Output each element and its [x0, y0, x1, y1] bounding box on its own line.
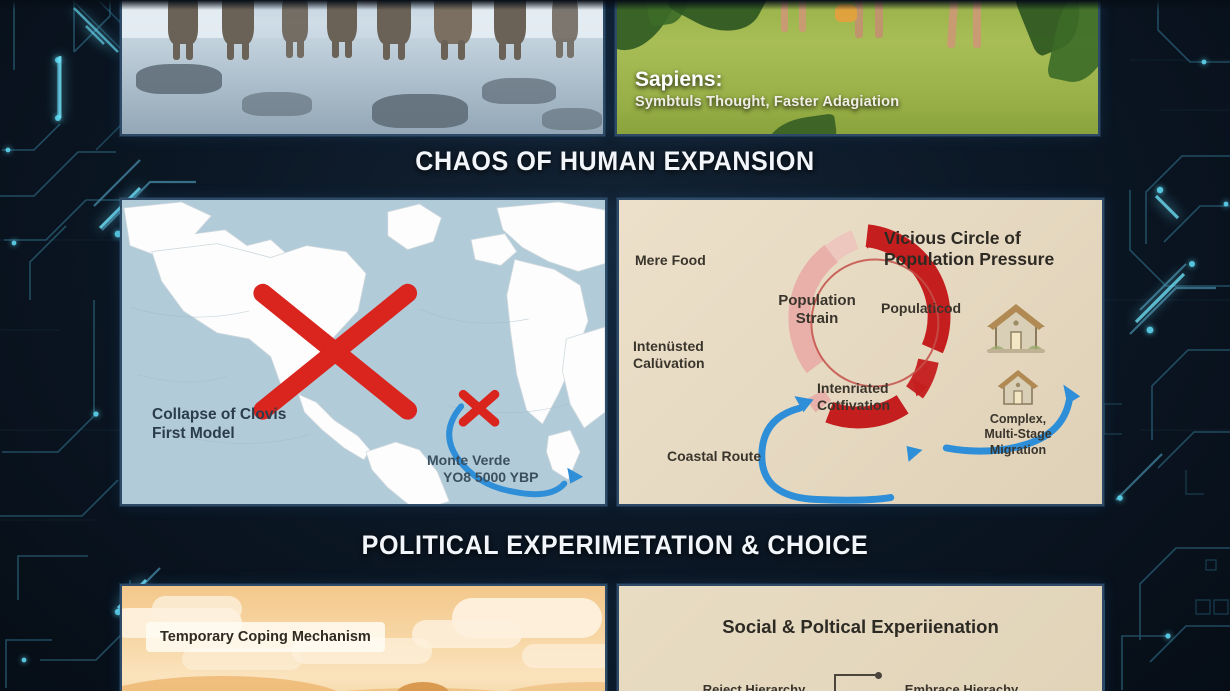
- label-intensified-mid: Intenriated Cotfivation: [817, 380, 890, 414]
- label-population: Populaticod: [881, 300, 961, 317]
- temporary-coping-pill: Temporary Coping Mechanism: [146, 622, 385, 652]
- figure: [434, 0, 472, 44]
- sapiens-caption: Sapiens: Symbtuls Thought, Faster Adagia…: [635, 68, 899, 110]
- option-reject-hierarchy[interactable]: Reject Hierarchy: [703, 682, 806, 691]
- house-icon-small: [997, 368, 1039, 413]
- sapiens-jungle-panel[interactable]: Sapiens: Symbtuls Thought, Faster Adagia…: [615, 0, 1100, 136]
- figure: [552, 0, 578, 42]
- vicious-circle-panel[interactable]: Vicious Circle of Population Pressure Po…: [617, 198, 1104, 506]
- social-panel-title: Social & Poltical Experiienation: [619, 616, 1102, 638]
- figure: [377, 0, 411, 44]
- neanderthal-ice-panel[interactable]: [120, 0, 605, 136]
- ice-scene-art: [122, 0, 603, 134]
- bottom-panel-row: Temporary Coping Mechanism Social & Polt…: [120, 584, 1110, 691]
- coastal-site-x: [463, 394, 495, 422]
- label-intensified-left: Intenüsted Calüvation: [633, 338, 705, 372]
- social-options-row: Reject Hierarchy Embrace Hierachy: [619, 682, 1102, 691]
- option-embrace-hierarchy[interactable]: Embrace Hierachy: [905, 682, 1018, 691]
- label-coastal-route: Coastal Route: [667, 448, 761, 465]
- figure: [327, 0, 357, 42]
- circle-title: Vicious Circle of Population Pressure: [884, 228, 1084, 271]
- middle-panel-row: Collapse of Clovis First Model Monte Ver…: [120, 198, 1110, 506]
- clovis-map-panel[interactable]: Collapse of Clovis First Model Monte Ver…: [120, 198, 607, 506]
- figure: [494, 0, 526, 44]
- figure: [168, 0, 198, 44]
- map-title: Collapse of Clovis First Model: [152, 406, 286, 443]
- label-more-food: Mere Food: [635, 252, 706, 269]
- figure: [222, 0, 254, 44]
- migration-label: Complex, Multi-Stage Migration: [963, 412, 1073, 458]
- caption-subtitle: Symbtuls Thought, Faster Adagiation: [635, 94, 899, 110]
- social-political-panel[interactable]: Social & Poltical Experiienation Reject …: [617, 584, 1104, 691]
- top-panel-row: Sapiens: Symbtuls Thought, Faster Adagia…: [120, 0, 1110, 136]
- section-heading-political: POLITICAL EXPERIMETATION & CHOICE: [43, 530, 1187, 561]
- animal: [909, 0, 935, 2]
- circle-center-label: Population Strain: [757, 292, 877, 328]
- figure: [282, 0, 308, 42]
- infographic-stage: Sapiens: Symbtuls Thought, Faster Adagia…: [0, 0, 1230, 691]
- caption-title: Sapiens:: [635, 68, 899, 91]
- monte-verde-label: Monte Verde YO8 5000 YBP: [427, 452, 538, 486]
- animal: [835, 4, 857, 22]
- savanna-panel[interactable]: Temporary Coping Mechanism: [120, 584, 607, 691]
- section-heading-chaos: CHAOS OF HUMAN EXPANSION: [43, 146, 1187, 177]
- house-icon-large: [987, 302, 1045, 361]
